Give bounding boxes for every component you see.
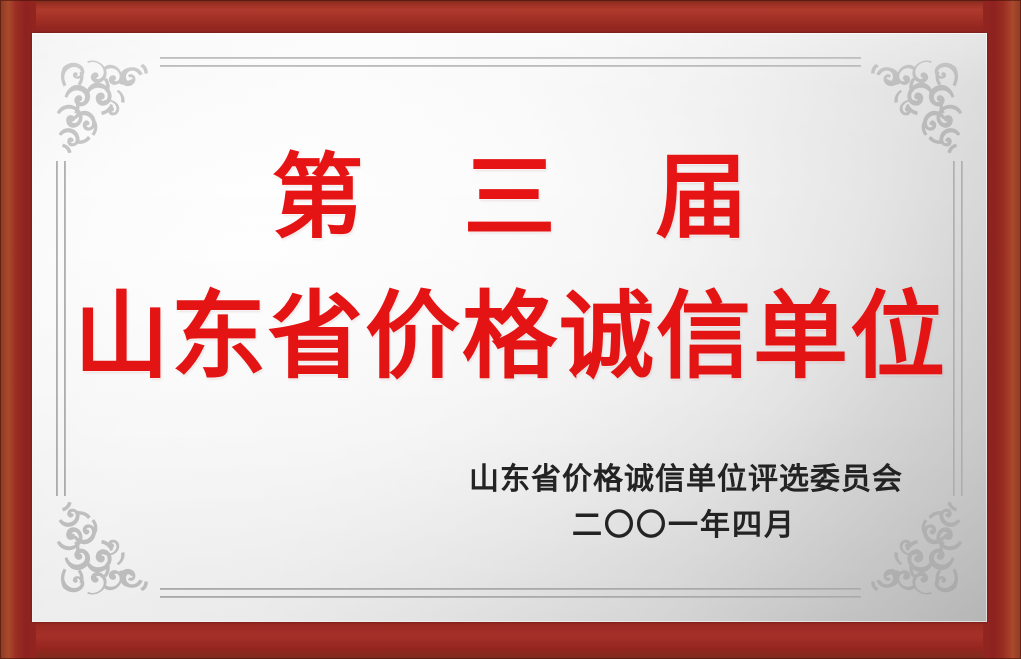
plaque-title: 山东省价格诚信单位 <box>32 289 987 384</box>
frame-stile-left <box>0 0 36 659</box>
frame-stile-right <box>983 0 1021 659</box>
plaque-content: 第 三 届 山东省价格诚信单位 山东省价格诚信单位评选委员会 二〇〇一年四月 <box>32 33 987 622</box>
award-plaque: 第 三 届 山东省价格诚信单位 山东省价格诚信单位评选委员会 二〇〇一年四月 <box>0 0 1021 659</box>
signature-block: 山东省价格诚信单位评选委员会 二〇〇一年四月 <box>469 461 899 546</box>
plaque-heading: 第 三 届 <box>32 151 987 243</box>
frame-rail-bottom <box>0 619 1021 659</box>
plaque-panel: 第 三 届 山东省价格诚信单位 山东省价格诚信单位评选委员会 二〇〇一年四月 <box>32 33 987 622</box>
issuing-organization: 山东省价格诚信单位评选委员会 <box>469 461 899 499</box>
issue-date: 二〇〇一年四月 <box>469 507 899 545</box>
